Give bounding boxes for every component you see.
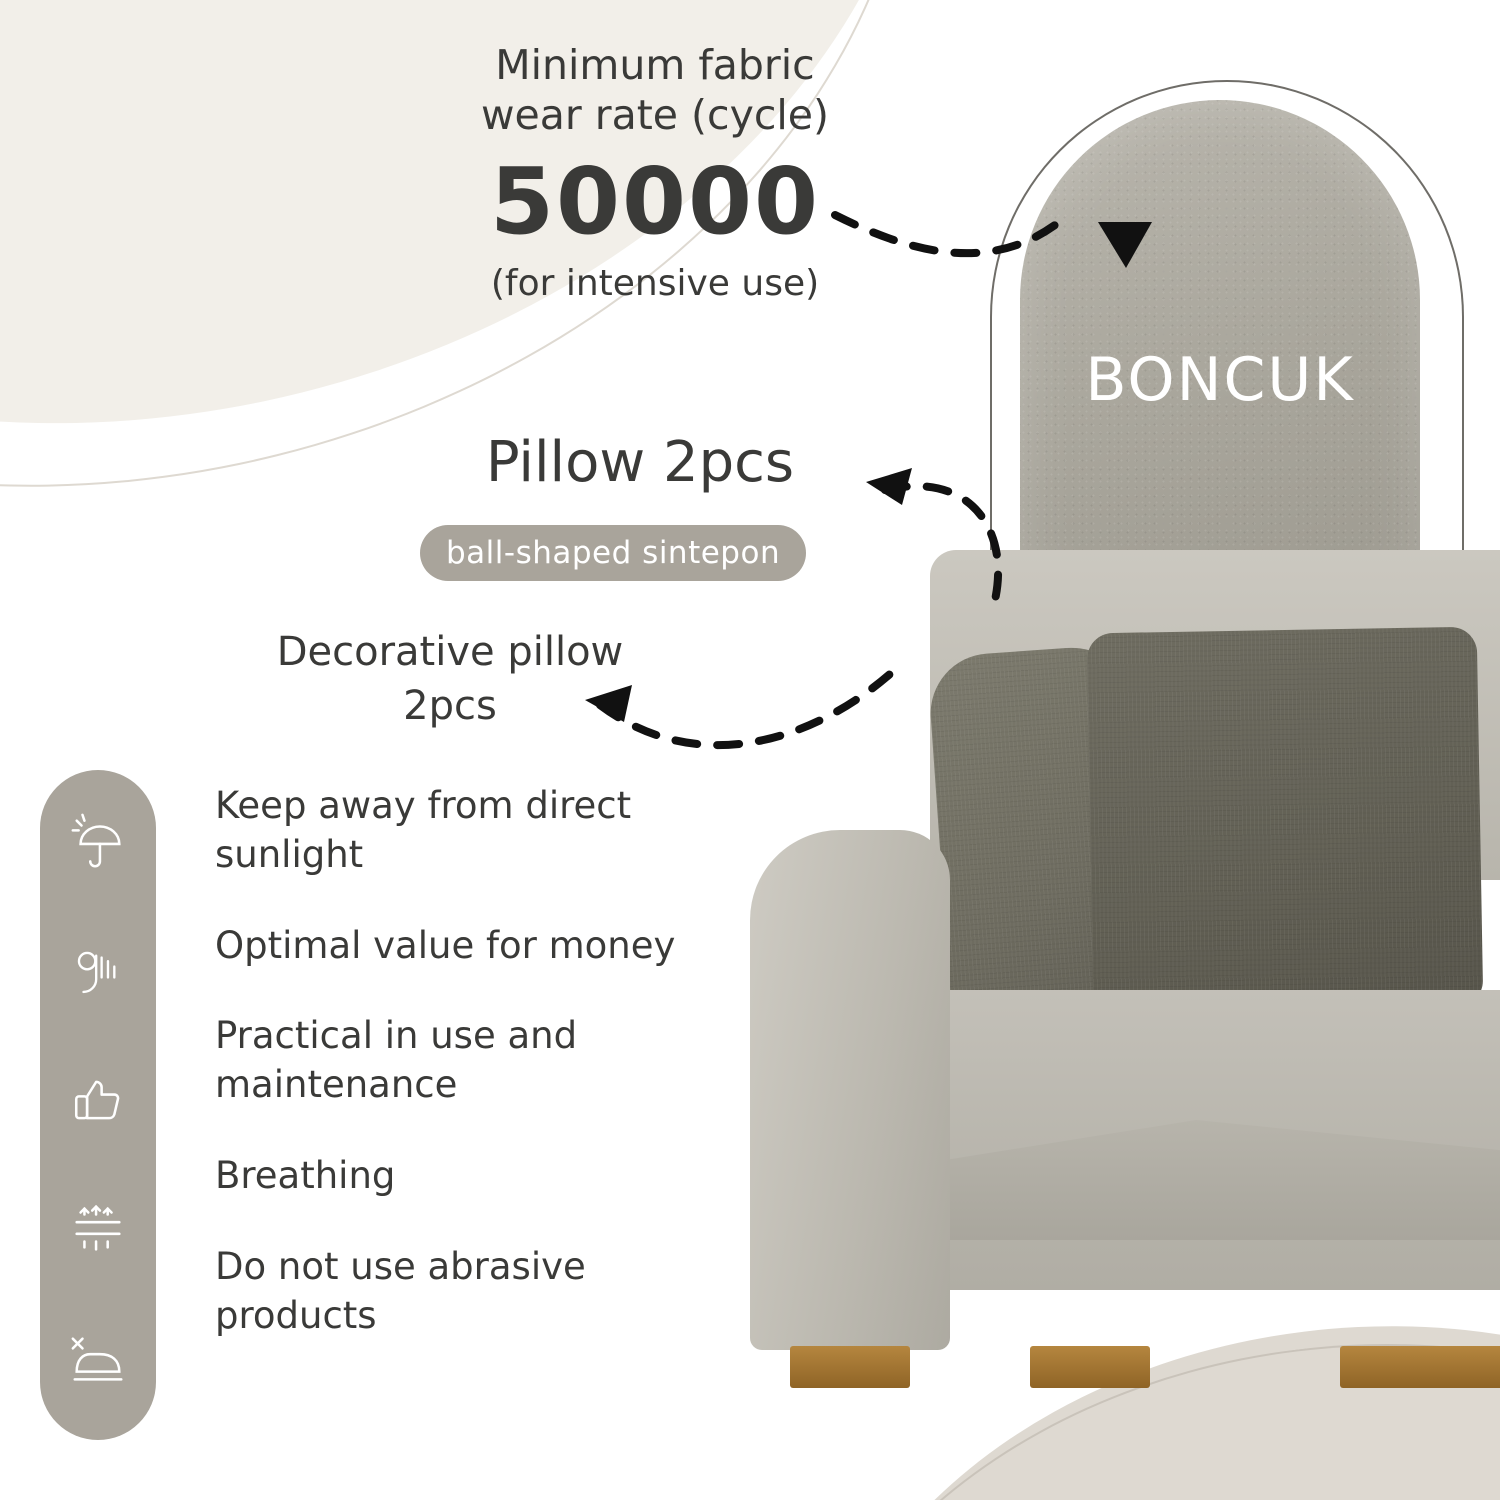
armrest [750,830,950,1350]
fabric-wear-block: Minimum fabric wear rate (cycle) 50000 (… [420,40,890,304]
sofa-leg [1030,1346,1150,1388]
decorative-pillow-right [1087,627,1484,1014]
feature-icon-rail [40,770,156,1440]
decorative-pillow-label: Decorative pillow 2pcs [250,625,650,733]
sofa-leg [790,1346,910,1388]
fabric-wear-note: (for intensive use) [420,263,890,304]
pillow-title: Pillow 2pcs [410,430,870,495]
decorative-pillow-line1: Decorative pillow [250,625,650,679]
fabric-wear-line2: wear rate (cycle) [420,90,890,140]
fabric-wear-value: 50000 [420,144,890,259]
ok-hand-icon [40,922,156,1022]
pillow-filling-badge: ball-shaped sintepon [420,525,806,581]
no-iron-icon [40,1310,156,1410]
feature-item: Do not use abrasive products [215,1243,745,1341]
pillow-right-texture [1087,627,1484,1014]
feature-item: Optimal value for money [215,922,745,971]
sofa-body [730,530,1500,1350]
feature-item: Breathing [215,1152,745,1201]
feature-list: Keep away from direct sunlight Optimal v… [215,782,745,1383]
feature-item: Practical in use and maintenance [215,1012,745,1110]
fabric-wear-line1: Minimum fabric [420,40,890,90]
decorative-pillow-line2: 2pcs [250,679,650,733]
airflow-icon [40,1178,156,1278]
sofa-leg [1340,1346,1500,1388]
thumbs-up-icon [40,1050,156,1150]
umbrella-sun-icon [40,792,156,892]
feature-item: Keep away from direct sunlight [215,782,745,880]
brand-label: BONCUK [1020,345,1420,415]
poster-canvas: BONCUK M [0,0,1500,1500]
